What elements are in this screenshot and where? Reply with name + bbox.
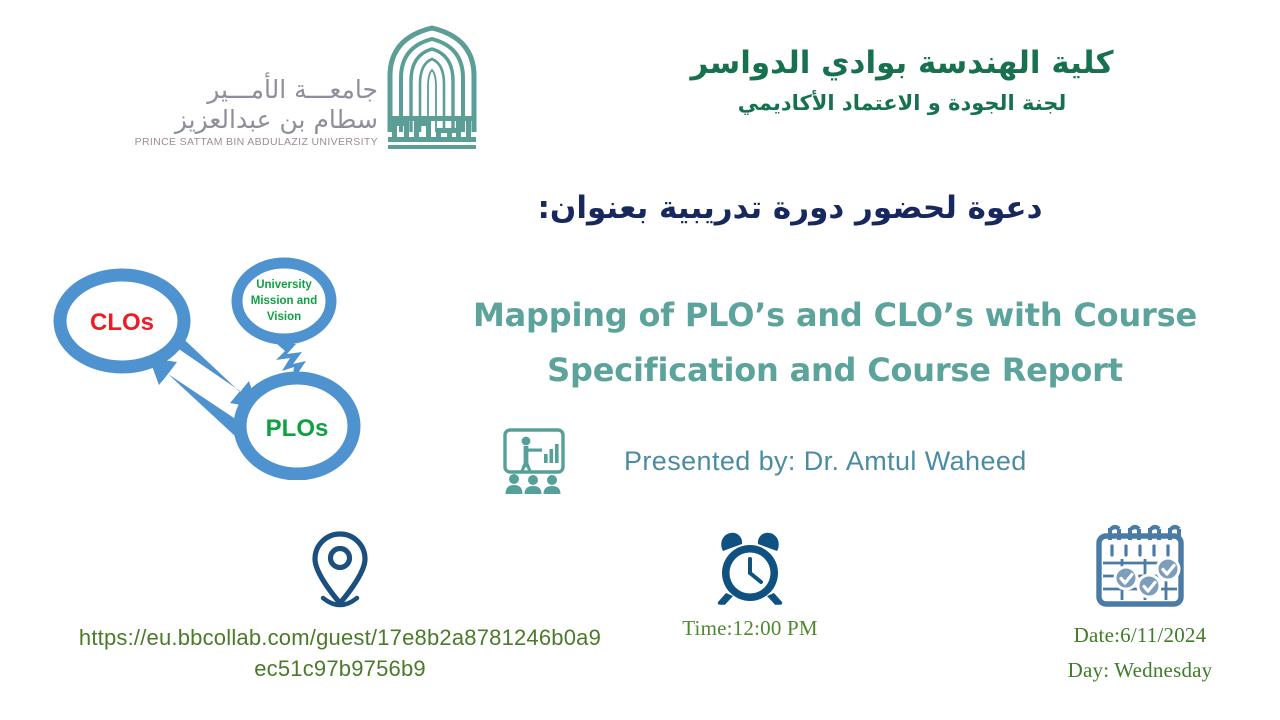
header-arabic: كلية الهندسة بوادي الدواسر لجنة الجودة و… [582,44,1222,117]
committee-name: لجنة الجودة و الاعتماد الأكاديمي [582,90,1222,117]
diagram-label-mission-2: Mission and [251,295,317,307]
meeting-url[interactable]: https://eu.bbcollab.com/guest/17e8b2a878… [60,622,620,684]
university-logo: جامعـــة الأمـــير سطام بن عبدالعزيز PRI… [150,22,480,152]
calendar-check-icon [1090,524,1190,608]
presenter-name: Presented by: Dr. Amtul Waheed [624,446,1027,477]
invitation-line: دعوة لحضور دورة تدريبية بعنوان: [430,190,1150,226]
logo-arabic-line1: جامعـــة الأمـــير [207,75,378,105]
diagram-label-mission-1: University [256,279,312,291]
poster-canvas: جامعـــة الأمـــير سطام بن عبدالعزيز PRI… [0,0,1280,720]
logo-arabic-line2: سطام بن عبدالعزيز [175,105,378,135]
presenter-row: Presented by: Dr. Amtul Waheed [500,428,1200,494]
course-title-line2: Specification and Course Report [420,343,1250,398]
diagram-node-mission: University Mission and Vision [237,263,331,339]
course-title: Mapping of PLO’s and CLO’s with Course S… [420,288,1250,398]
location-pin-icon [310,530,370,612]
alarm-clock-icon [713,530,787,606]
college-name: كلية الهندسة بوادي الدواسر [582,44,1222,84]
meeting-url-line1: https://eu.bbcollab.com/guest/17e8 [79,625,427,650]
meeting-date: Date:6/11/2024 [1074,618,1207,653]
mosque-arch-logo-icon [384,24,480,152]
diagram-label-mission-3: Vision [267,311,301,323]
meeting-day: Day: Wednesday [1068,653,1213,688]
diagram-node-clos: CLOs [60,275,184,367]
clo-plo-mapping-diagram: CLOs University Mission and Vision PLOs [44,248,404,480]
meeting-link-block: https://eu.bbcollab.com/guest/17e8b2a878… [60,530,620,684]
meeting-time-block: Time:12:00 PM [600,530,900,641]
diagram-label-clos: CLOs [90,309,154,336]
logo-english-name: PRINCE SATTAM BIN ABDULAZIZ UNIVERSITY [135,136,378,148]
course-title-line1: Mapping of PLO’s and CLO’s with Course [420,288,1250,343]
meeting-time: Time:12:00 PM [682,616,817,641]
diagram-node-plos: PLOs [240,378,354,474]
training-presentation-icon [500,428,572,494]
meeting-date-block: Date:6/11/2024 Day: Wednesday [960,524,1280,687]
diagram-label-plos: PLOs [266,415,329,442]
logo-wordmark: جامعـــة الأمـــير سطام بن عبدالعزيز PRI… [135,75,378,152]
